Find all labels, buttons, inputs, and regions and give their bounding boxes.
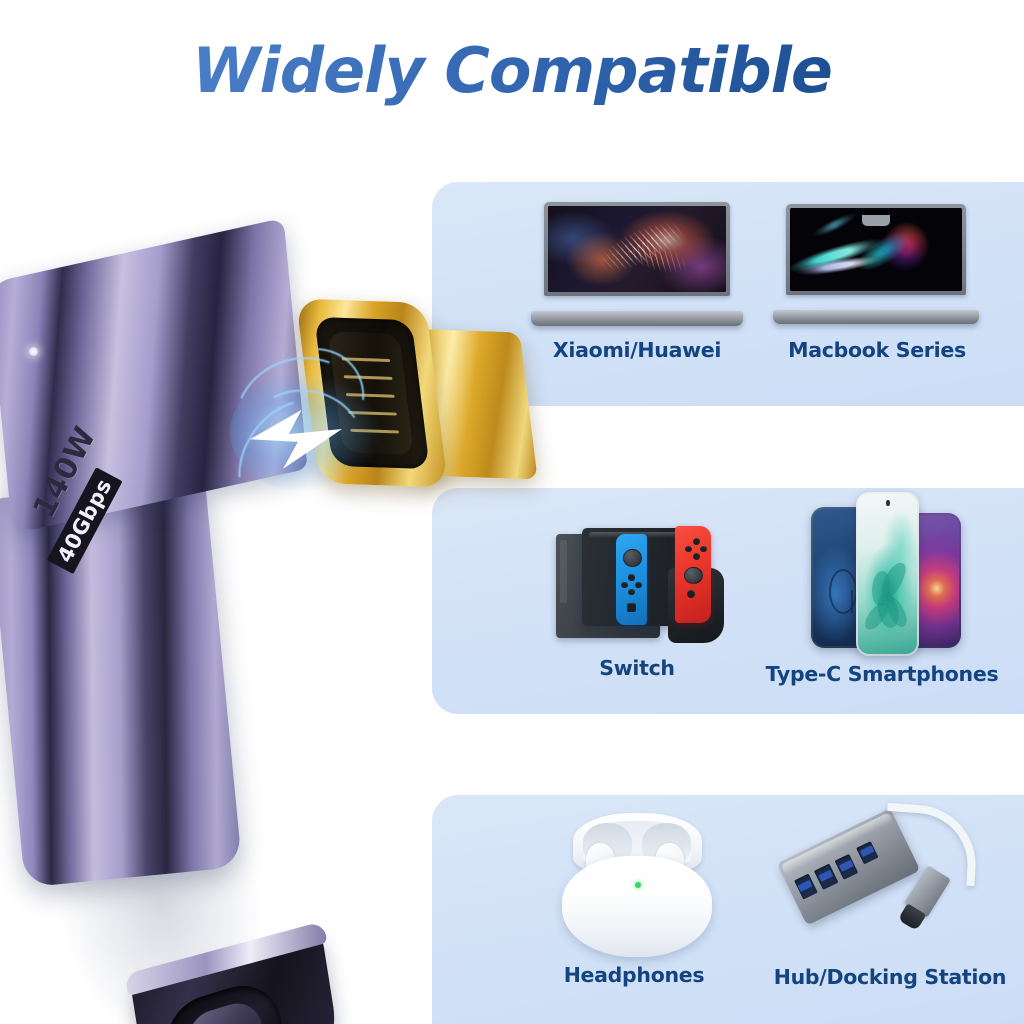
compat-item-xiaomi-huawei: Xiaomi/Huawei bbox=[532, 202, 742, 338]
compat-item-switch: Switch bbox=[537, 516, 737, 656]
led-indicator-icon bbox=[28, 346, 39, 357]
usb-hub-icon bbox=[788, 809, 998, 959]
laptop-icon bbox=[544, 202, 730, 326]
macbook-icon bbox=[786, 204, 966, 324]
compat-item-headphones: Headphones bbox=[534, 813, 734, 963]
compat-label: Xiaomi/Huawei bbox=[532, 338, 742, 362]
page-title: Widely Compatible bbox=[0, 34, 1024, 107]
product-infographic: Widely Compatible Xiaomi/Huawei bbox=[0, 0, 1024, 1024]
smartphone-icon bbox=[811, 492, 961, 656]
compat-label: Switch bbox=[537, 656, 737, 680]
compat-label: Hub/Docking Station bbox=[752, 965, 1024, 989]
compat-item-type-c-smartphones: Type-C Smartphones bbox=[757, 492, 1007, 656]
compat-item-macbook-series: Macbook Series bbox=[762, 202, 992, 338]
magnetic-spark-effect bbox=[228, 328, 418, 528]
game-console-icon bbox=[545, 516, 731, 646]
compat-label: Macbook Series bbox=[762, 338, 992, 362]
earbuds-icon bbox=[562, 813, 712, 957]
product-image: 140W 40Gbps bbox=[0, 236, 550, 896]
compat-label: Headphones bbox=[534, 963, 734, 987]
adapter-body bbox=[0, 478, 242, 887]
compat-label: Type-C Smartphones bbox=[757, 662, 1007, 686]
compat-item-hub-docking-station: Hub/Docking Station bbox=[752, 809, 1024, 963]
